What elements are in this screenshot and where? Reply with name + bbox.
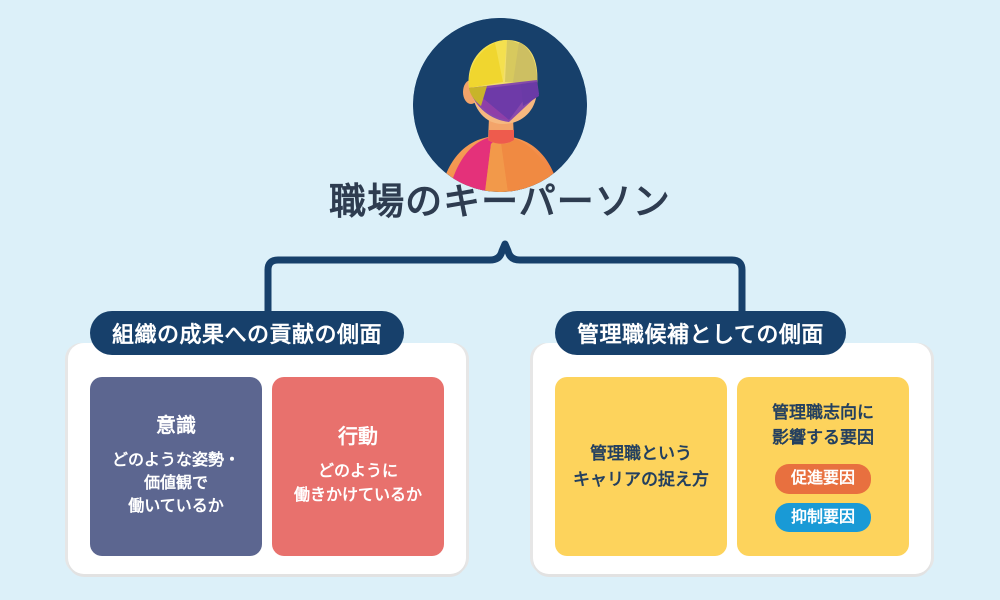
panel-organization-contribution: 組織の成果への貢献の側面 意識 どのような姿勢・ 価値観で 働いているか 行動 … [68,343,466,574]
status-badge-promote[interactable]: 促進要因 [775,464,871,493]
bracket-connector [250,240,760,320]
card-influencing-factors[interactable]: 管理職志向に 影響する要因 促進要因 抑制要因 [737,377,909,556]
badge-group: 促進要因 抑制要因 [775,464,871,531]
card-consciousness-title: 意識 [156,415,196,437]
bracket-icon [250,240,760,320]
card-group-left: 意識 どのような姿勢・ 価値観で 働いているか 行動 どのように 働きかけている… [90,377,444,556]
card-career-view[interactable]: 管理職という キャリアの捉え方 [555,377,727,556]
person-avatar-graphic [413,18,587,192]
card-consciousness-body: どのような姿勢・ 価値観で 働いているか [112,449,240,519]
card-behavior[interactable]: 行動 どのように 働きかけているか [272,377,444,556]
card-influencing-factors-title: 管理職志向に 影響する要因 [772,401,874,450]
panel-manager-candidate: 管理職候補としての側面 管理職という キャリアの捉え方 管理職志向に 影響する要… [533,343,931,574]
person-avatar-icon [413,18,587,192]
avatar [413,18,587,192]
panel-header-manager-candidate: 管理職候補としての側面 [555,311,846,355]
card-consciousness[interactable]: 意識 どのような姿勢・ 価値観で 働いているか [90,377,262,556]
panel-header-organization-contribution: 組織の成果への貢献の側面 [90,311,404,355]
status-badge-suppress[interactable]: 抑制要因 [775,503,871,532]
card-group-right: 管理職という キャリアの捉え方 管理職志向に 影響する要因 促進要因 抑制要因 [555,377,909,556]
card-behavior-body: どのように 働きかけているか [294,460,422,506]
card-behavior-title: 行動 [338,426,378,448]
page-title: 職場のキーパーソン [0,183,1000,220]
card-career-view-body: 管理職という キャリアの捉え方 [573,441,709,492]
